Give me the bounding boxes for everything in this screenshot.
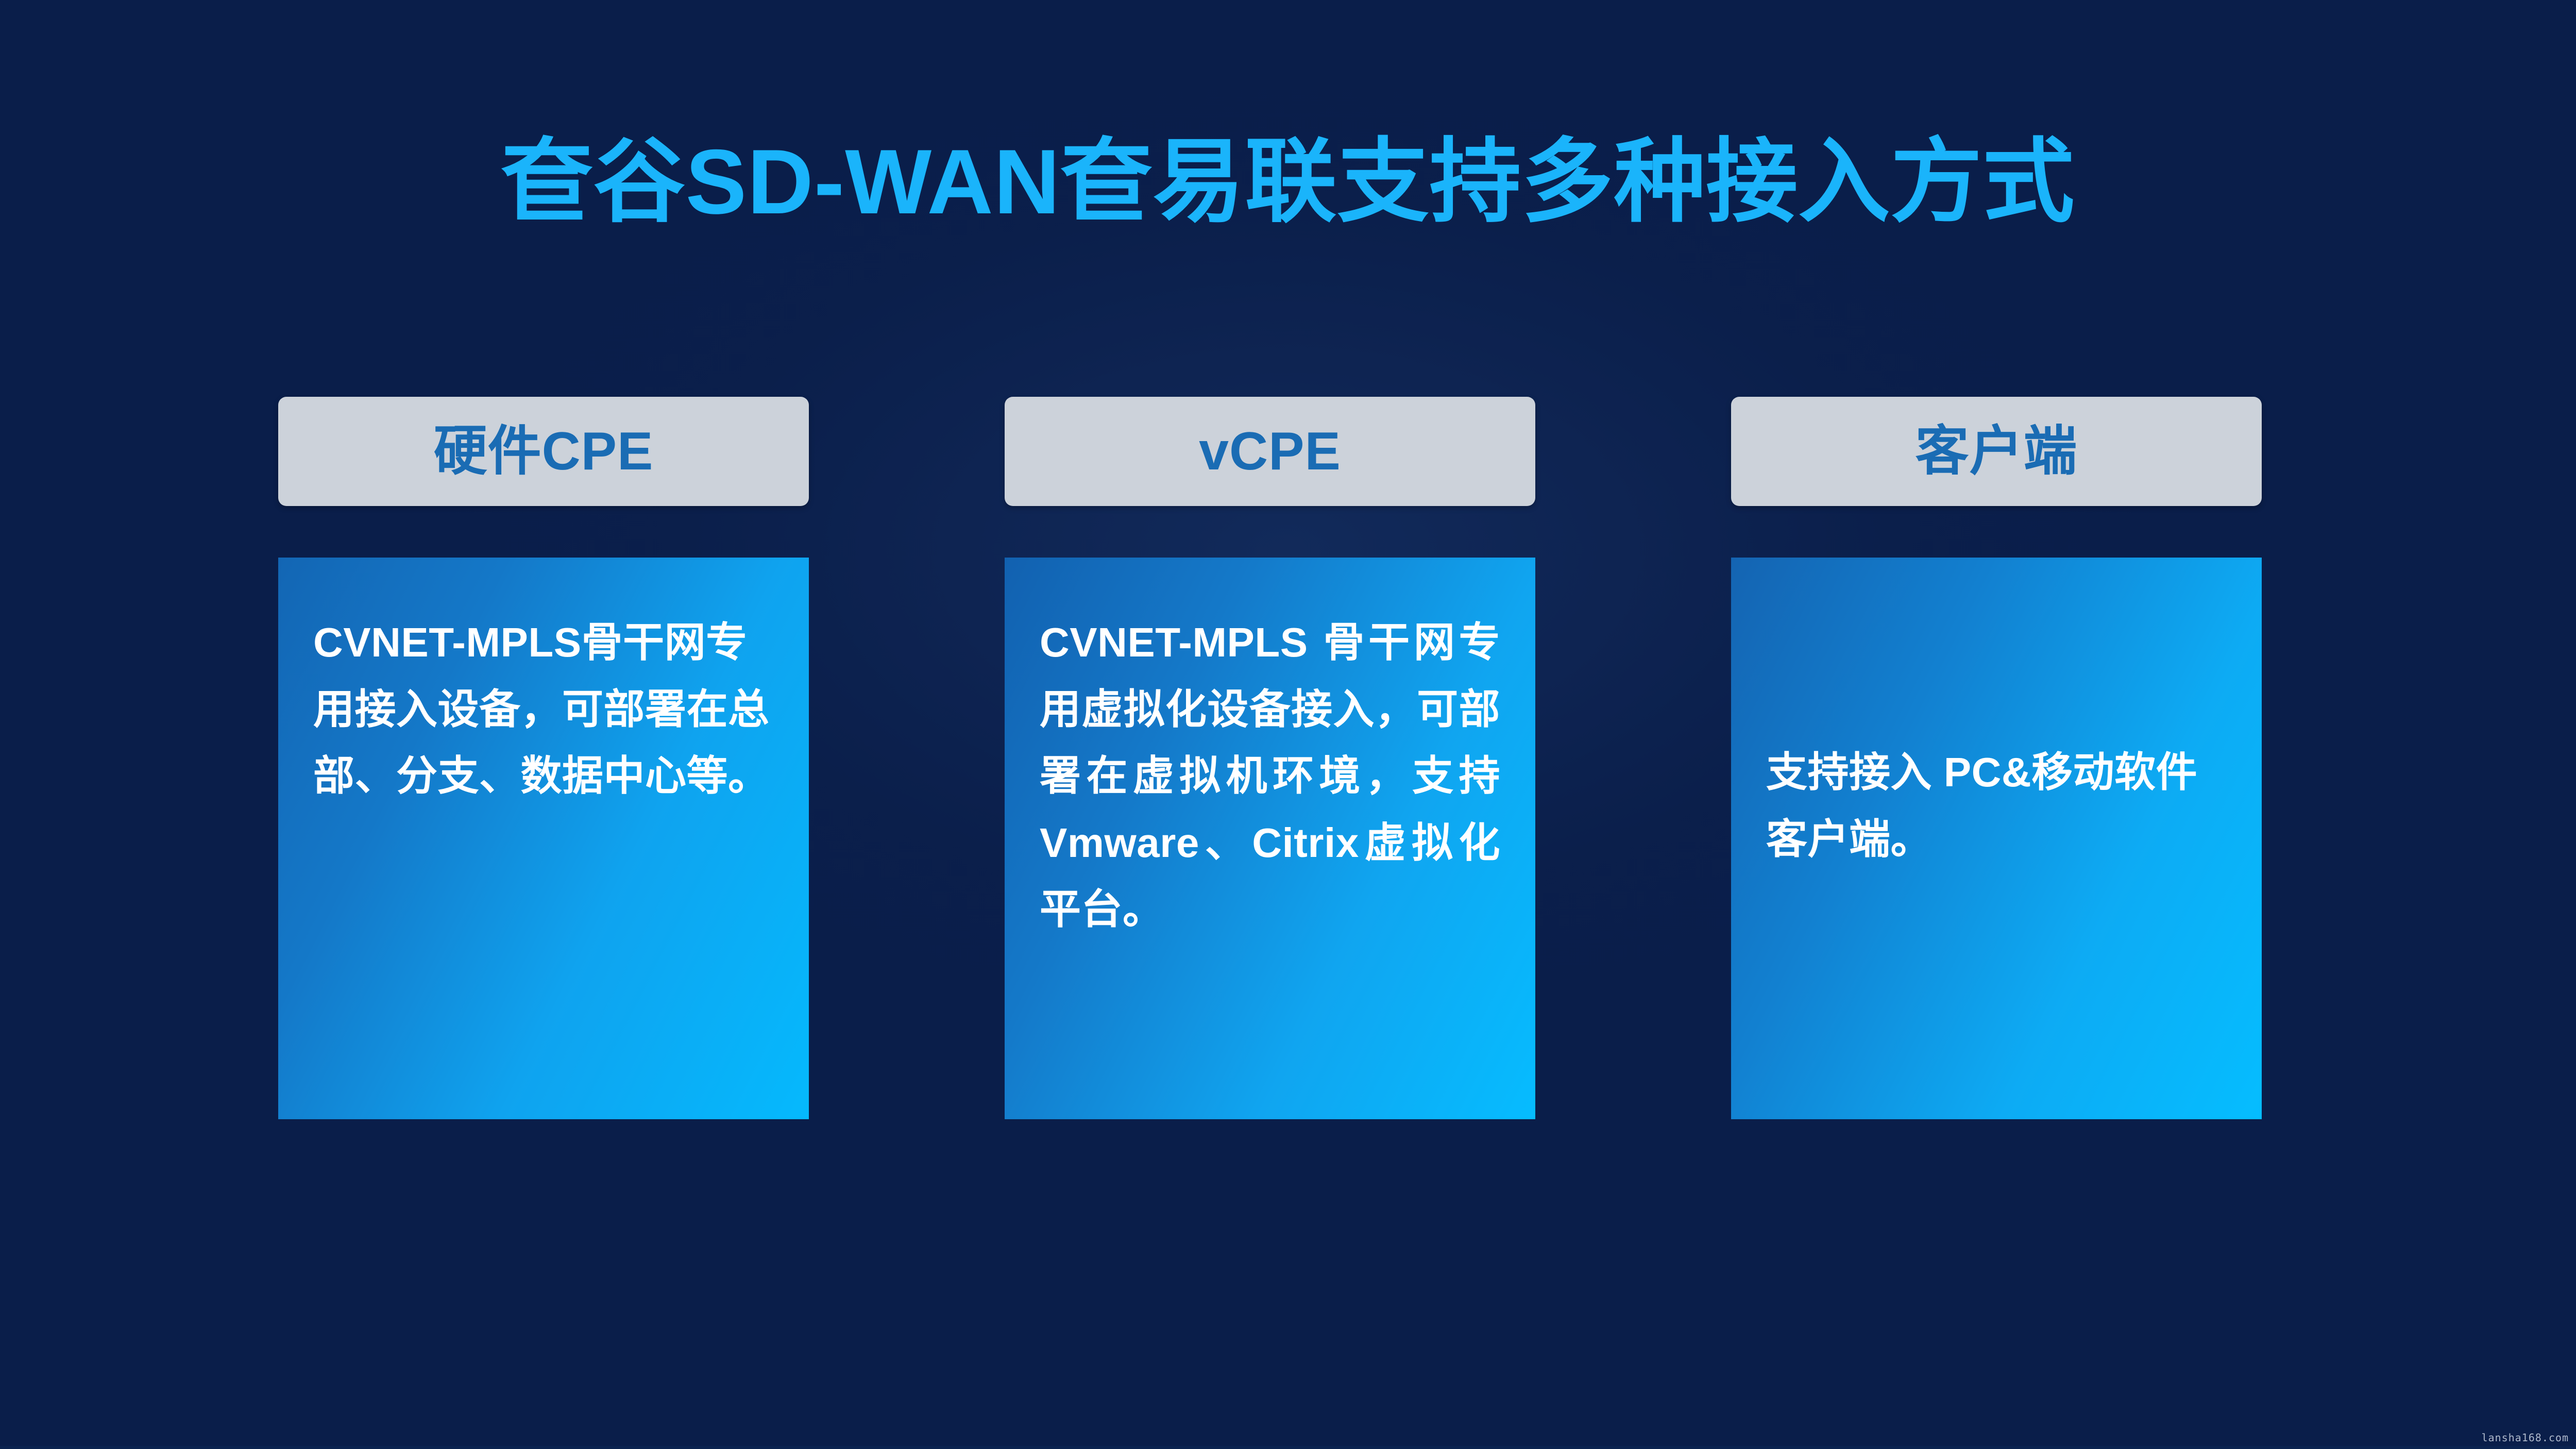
option-header-label: vCPE (1199, 425, 1341, 478)
page-title: 奆谷SD-WAN奆易联支持多种接入方式 (0, 131, 2576, 232)
option-header-box-client[interactable]: 客户端 (1731, 397, 2262, 506)
access-option-column-hardware-cpe: 硬件CPE CVNET-MPLS骨干网专用接入设备，可部署在总部、分支、数据中心… (278, 397, 809, 1119)
option-body-card-vcpe: CVNET-MPLS 骨干网专用虚拟化设备接入，可部署在虚拟机环境，支持Vmwa… (1005, 558, 1535, 1119)
option-body-card-hardware-cpe: CVNET-MPLS骨干网专用接入设备，可部署在总部、分支、数据中心等。 (278, 558, 809, 1119)
option-body-card-client: 支持接入 PC&移动软件客户端。 (1731, 558, 2262, 1119)
option-body-text: 支持接入 PC&移动软件客户端。 (1766, 558, 2227, 872)
watermark-text: lansha168.com (2481, 1431, 2569, 1444)
option-body-text: CVNET-MPLS 骨干网专用虚拟化设备接入，可部署在虚拟机环境，支持Vmwa… (1040, 558, 1500, 943)
access-option-column-client: 客户端 支持接入 PC&移动软件客户端。 (1731, 397, 2262, 1119)
option-header-label: 客户端 (1915, 425, 2077, 478)
bottom-edge-divider (0, 1446, 2576, 1449)
option-body-text: CVNET-MPLS骨干网专用接入设备，可部署在总部、分支、数据中心等。 (313, 558, 774, 810)
option-header-label: 硬件CPE (434, 425, 654, 478)
option-header-box-hardware-cpe[interactable]: 硬件CPE (278, 397, 809, 506)
access-option-column-vcpe: vCPE CVNET-MPLS 骨干网专用虚拟化设备接入，可部署在虚拟机环境，支… (1005, 397, 1535, 1119)
option-header-box-vcpe[interactable]: vCPE (1005, 397, 1535, 506)
slide-canvas: 奆谷SD-WAN奆易联支持多种接入方式 硬件CPE CVNET-MPLS骨干网专… (0, 0, 2576, 1449)
